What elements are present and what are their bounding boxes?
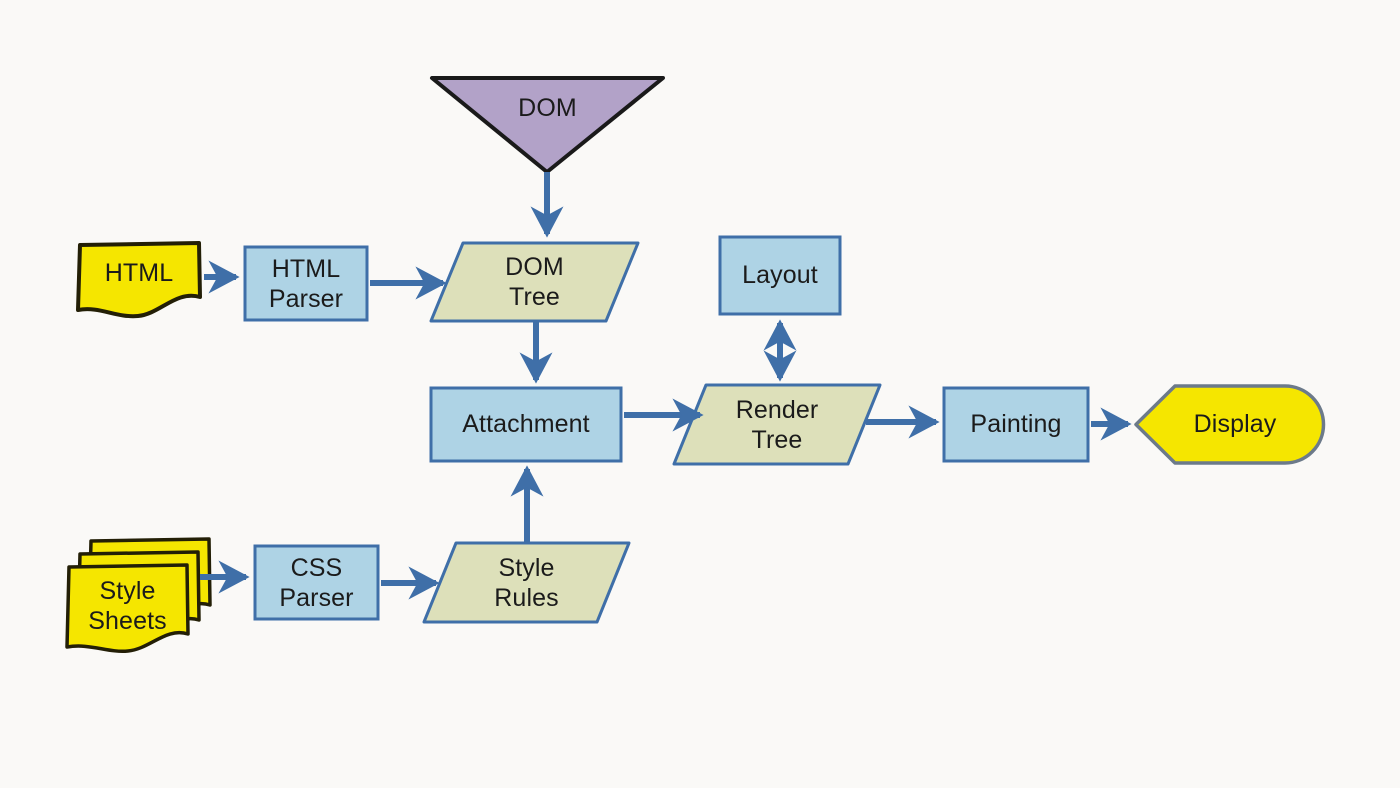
node-painting-shape bbox=[944, 388, 1088, 461]
diagram-canvas: HTML HTML Parser DOM DOM Tree Attachment… bbox=[0, 0, 1400, 788]
node-css-parser-shape bbox=[255, 546, 378, 619]
node-display-shape bbox=[1136, 386, 1324, 463]
diagram-shapes-layer bbox=[0, 0, 1400, 788]
node-layout-shape bbox=[720, 237, 840, 314]
node-attachment-shape bbox=[431, 388, 621, 461]
node-dom-shape bbox=[432, 78, 663, 172]
node-html-document-shape bbox=[78, 243, 200, 316]
node-dom-tree-shape bbox=[431, 243, 638, 321]
node-style-sheets-sheet-front bbox=[67, 565, 188, 651]
node-render-tree-shape bbox=[674, 385, 880, 464]
node-html-parser-shape bbox=[245, 247, 367, 320]
node-style-rules-shape bbox=[424, 543, 629, 622]
